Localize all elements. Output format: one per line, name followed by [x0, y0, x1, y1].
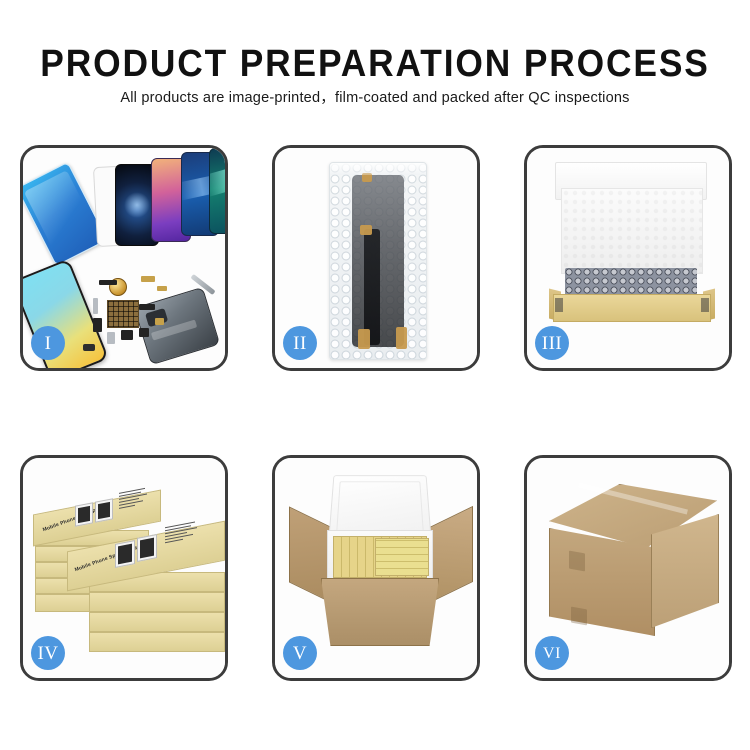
- process-step-grid: I II: [20, 145, 735, 681]
- yellow-boxes-row-2: [375, 538, 429, 576]
- box-label-image-3: [115, 540, 135, 568]
- small-part-h: [121, 330, 133, 340]
- page-title: PRODUCT PREPARATION PROCESS: [26, 42, 724, 86]
- step-badge-4: IV: [31, 636, 65, 670]
- small-part-i: [139, 328, 149, 337]
- step-badge-5: V: [283, 636, 317, 670]
- step-badge-3: III: [535, 326, 569, 360]
- page-title-wrapper: PRODUCT PREPARATION PROCESS: [0, 42, 750, 86]
- step-badge-1: I: [31, 326, 65, 360]
- flex-cable: [364, 229, 380, 345]
- phone-rear-housing: [134, 287, 220, 365]
- stacked-box-r4: [89, 632, 225, 652]
- step-panel-6: VI: [524, 455, 732, 681]
- step-5-illustration: V: [275, 458, 477, 678]
- step-panel-1: I: [20, 145, 228, 371]
- small-part-b: [141, 276, 155, 282]
- small-part-e: [93, 318, 102, 332]
- box-stack: Mobile Phone Spare Parts Mobile Phone Sp…: [31, 476, 225, 666]
- small-part-d: [93, 298, 98, 314]
- step-badge-6: VI: [535, 636, 569, 670]
- step-3-illustration: III: [527, 148, 729, 368]
- carton-tape-upper: [569, 551, 585, 572]
- step-panel-5: V: [272, 455, 480, 681]
- step-panel-4: Mobile Phone Spare Parts Mobile Phone Sp…: [20, 455, 228, 681]
- small-part-g: [107, 332, 115, 344]
- small-part-c: [157, 286, 167, 291]
- connector-grid-part: [107, 300, 139, 328]
- phone-display-teal: [209, 148, 225, 234]
- gold-contact-2: [360, 225, 372, 235]
- gold-contact-3: [358, 329, 370, 349]
- step-panel-3: III: [524, 145, 732, 371]
- step-1-illustration: I: [23, 148, 225, 368]
- box-corner-tab-left: [555, 298, 563, 312]
- carton-tape-lower: [571, 607, 587, 626]
- product-preparation-infographic: PRODUCT PREPARATION PROCESS All products…: [0, 0, 750, 750]
- stacked-box-r2: [89, 592, 225, 612]
- bubble-wrap-bag: [329, 162, 427, 360]
- step-2-illustration: II: [275, 148, 477, 368]
- bag-seal-edge: [330, 163, 426, 175]
- stacked-box-r3: [89, 612, 225, 632]
- box-label-image-4: [137, 534, 157, 562]
- carton-front-wall: [321, 578, 439, 646]
- step-badge-2: II: [283, 326, 317, 360]
- kraft-box-front: [553, 294, 711, 322]
- box-label-image-2: [95, 498, 113, 522]
- small-part-f: [139, 304, 155, 310]
- step-panel-2: II: [272, 145, 480, 371]
- small-part-a: [99, 280, 117, 285]
- step-6-illustration: VI: [527, 458, 729, 678]
- page-subtitle: All products are image-printed，film-coat…: [11, 88, 739, 108]
- small-part-j: [155, 318, 164, 325]
- box-corner-tab-right: [701, 298, 709, 312]
- step-4-illustration: Mobile Phone Spare Parts Mobile Phone Sp…: [23, 458, 225, 678]
- white-foam-sheet: [561, 188, 703, 274]
- box-label-image-1: [75, 502, 93, 526]
- small-part-k: [83, 344, 95, 351]
- gold-contact-4: [396, 327, 407, 349]
